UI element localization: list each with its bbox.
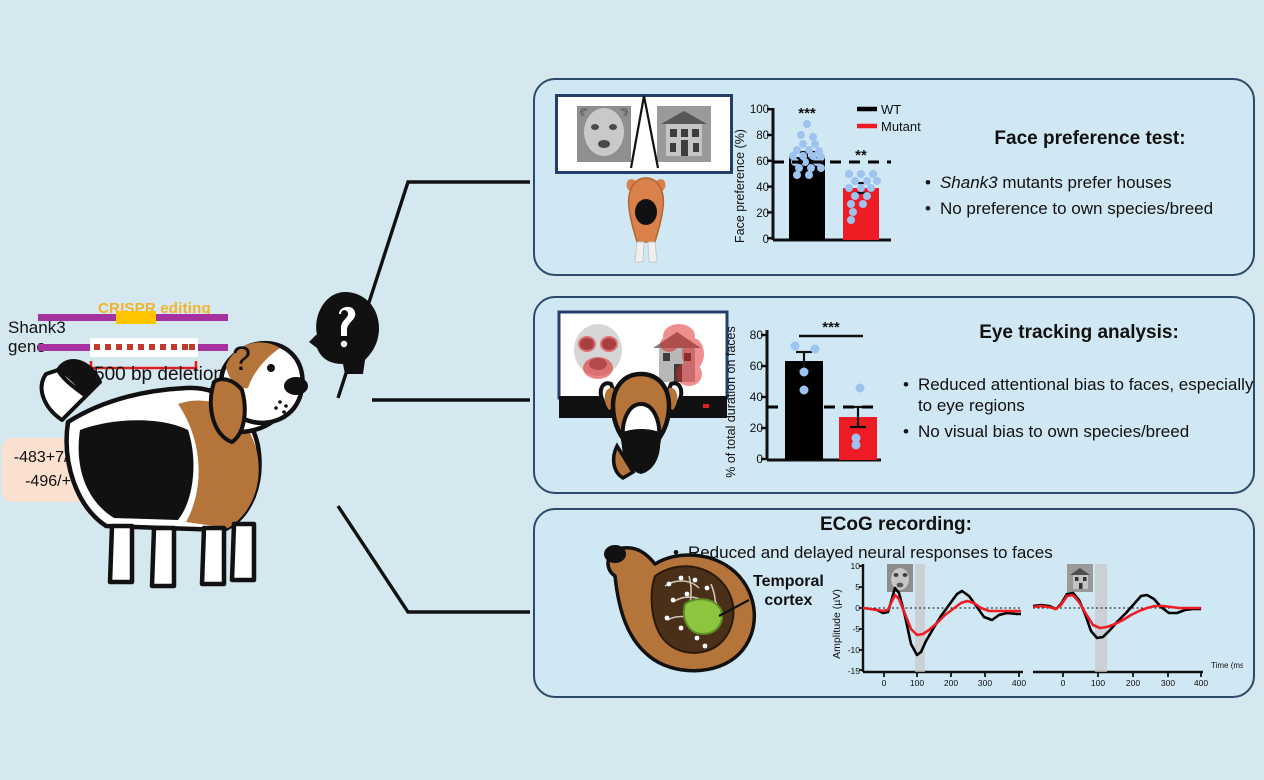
- svg-text:Mutant: Mutant: [881, 119, 921, 134]
- connector-lines: [330, 150, 550, 630]
- figure-canvas: CRISPR editing Shank3 gene 500 bp deleti…: [0, 0, 1264, 780]
- time-axis-label: Time (ms): [1211, 661, 1243, 670]
- svg-text:Amplitude (µV): Amplitude (µV): [831, 589, 843, 659]
- eye-panel-text: Eye tracking analysis: • Reduced attenti…: [903, 322, 1255, 447]
- svg-text:***: ***: [798, 105, 816, 122]
- face-panel-text: Face preference test: • Shank3 mutants p…: [925, 128, 1255, 224]
- panel-eye-tracking: % of total duration on faces 806040 200: [533, 296, 1255, 494]
- ecog-face-waveform-chart: Amplitude (µV) 1050 -5-10-15 0100200 300…: [831, 558, 1031, 692]
- bullet-item: • Reduced attentional bias to faces, esp…: [903, 374, 1255, 416]
- eye-tracking-chart: % of total duration on faces 806040 200: [723, 306, 903, 488]
- eye-panel-title: Eye tracking analysis:: [903, 322, 1255, 344]
- svg-text:WT: WT: [881, 102, 901, 117]
- panel-ecog-recording: ECoG recording: • Reduced and delayed ne…: [533, 508, 1255, 698]
- bullet-dot-icon: •: [925, 172, 931, 193]
- svg-text:100: 100: [750, 104, 769, 116]
- svg-text:100: 100: [1091, 678, 1105, 688]
- svg-text:300: 300: [978, 678, 992, 688]
- temporal-cortex-label: Temporal cortex: [753, 572, 824, 610]
- svg-text:Face preference (%): Face preference (%): [733, 129, 747, 243]
- two-choice-stimulus-frame: [555, 94, 733, 174]
- ecog-house-waveform-chart: 0100200 300400 Time (ms): [1025, 558, 1243, 692]
- svg-text:300: 300: [1161, 678, 1175, 688]
- svg-text:200: 200: [1126, 678, 1140, 688]
- bullet-text: Shank3 mutants prefer houses: [940, 172, 1172, 193]
- svg-text:**: **: [855, 147, 867, 164]
- face-panel-bullets: • Shank3 mutants prefer houses • No pref…: [925, 172, 1255, 219]
- beagle-illustration: [28, 330, 308, 620]
- bullet-dot-icon: •: [903, 421, 909, 442]
- svg-text:0: 0: [882, 678, 887, 688]
- house-thumbnail-inset: [1067, 564, 1093, 592]
- dog-face-thumbnail-inset: [887, 564, 913, 592]
- svg-text:-15: -15: [848, 666, 861, 676]
- svg-text:10: 10: [851, 561, 861, 571]
- dog-rear-view-illustration: [617, 172, 675, 264]
- bullet-text: No preference to own species/breed: [940, 198, 1213, 219]
- svg-text:0: 0: [1061, 678, 1066, 688]
- bullet-text: No visual bias to own species/breed: [918, 421, 1189, 442]
- eye-panel-bullets: • Reduced attentional bias to faces, esp…: [903, 374, 1255, 442]
- svg-text:100: 100: [910, 678, 924, 688]
- bullet-item: • Shank3 mutants prefer houses: [925, 172, 1255, 193]
- eye-tracking-stimulus-illustration: [553, 308, 733, 488]
- temporal-cortex-line1: Temporal: [753, 572, 824, 591]
- svg-text:0: 0: [763, 234, 769, 246]
- face-panel-title: Face preference test:: [925, 128, 1255, 150]
- bullet-dot-icon: •: [903, 374, 909, 416]
- bullet-text: Reduced attentional bias to faces, espec…: [918, 374, 1255, 416]
- svg-text:?: ?: [232, 340, 251, 378]
- dog-question-mark-icon: ?: [228, 340, 258, 386]
- svg-text:***: ***: [822, 319, 840, 336]
- svg-text:40: 40: [756, 182, 769, 194]
- bullet-dot-icon: •: [925, 198, 931, 219]
- face-preference-chart: Face preference (%) 1008060 40200: [731, 90, 921, 268]
- temporal-cortex-line2: cortex: [753, 591, 824, 610]
- panel-face-preference: Face preference (%) 1008060 40200: [533, 78, 1255, 276]
- svg-text:400: 400: [1194, 678, 1208, 688]
- svg-text:200: 200: [944, 678, 958, 688]
- bullet-item: • No visual bias to own species/breed: [903, 421, 1255, 442]
- bullet-item: • No preference to own species/breed: [925, 198, 1255, 219]
- svg-text:20: 20: [756, 208, 769, 220]
- svg-text:% of total duration on faces: % of total duration on faces: [724, 326, 738, 477]
- svg-text:-10: -10: [848, 645, 861, 655]
